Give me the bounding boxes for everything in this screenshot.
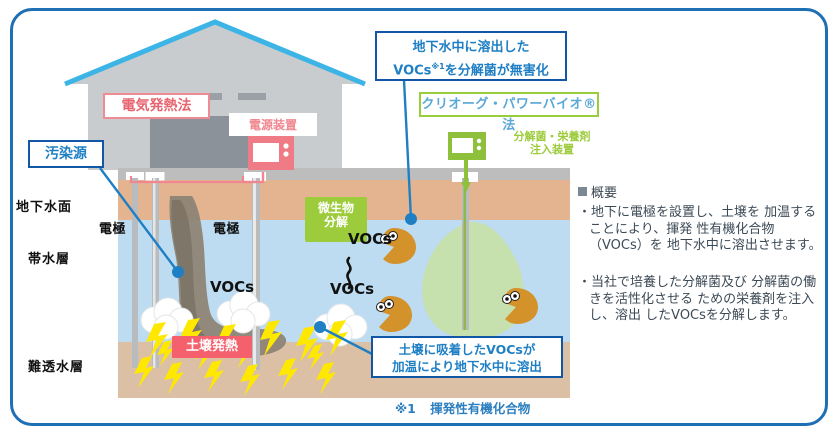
footnote-mark: ※1 [395, 401, 416, 416]
vocs-label-3: VOCs [330, 280, 374, 298]
power-supply-label: 電源装置 [229, 113, 317, 136]
top-callout-line-1: 地下水中に溶出した [377, 38, 565, 57]
soil-heating-bolts [128, 318, 378, 398]
top-callout-line-2: VOCs※1を分解菌が無害化 [377, 57, 565, 80]
microbe-3 [492, 286, 540, 326]
vocs-label-1: VOCs [210, 278, 254, 296]
panel-heading-text: 概要 [591, 182, 617, 201]
panel-bullet-2-l4: したVOCsを分解します。 [645, 308, 795, 323]
panel-bullet-2-l1: ・当社で培養した分解菌及び [578, 275, 747, 290]
ground-surface-layer [118, 168, 570, 180]
electric-heating-label: 電気発熱法 [103, 93, 210, 119]
description-panel: 概要 ・地下に電極を設置し、土壌を 加温することにより、揮発 性有機化合物（VO… [578, 182, 828, 325]
vocs-label-2: VOCs [348, 230, 392, 248]
electrode-label-1: 電極 [99, 218, 126, 237]
bottom-callout-line-1: 土壌に吸着したVOCsが [373, 341, 561, 358]
panel-bullet-1: ・地下に電極を設置し、土壌を 加温することにより、揮発 性有機化合物（VOCs）… [578, 205, 828, 255]
strata-label-aquitard: 難透水層 [28, 356, 84, 375]
panel-heading: 概要 [578, 182, 828, 201]
top-callout-footnote-mark: ※1 [431, 62, 444, 71]
panel-bullet-1-l1: ・地下に電極を設置し、土壌を [578, 205, 760, 220]
injection-device-label: 分解菌・栄養剤 注入装置 [492, 130, 612, 156]
top-callout-box: 地下水中に溶出した VOCs※1を分解菌が無害化 [375, 31, 567, 81]
soil-heating-tag: 土壌発熱 [172, 336, 252, 358]
microbial-tag-line-2: 分解 [305, 216, 367, 230]
electrode-label-2: 電極 [213, 218, 240, 237]
panel-bullet-1-l4: 地下水中に溶出させます。 [667, 238, 822, 253]
square-bullet-icon [578, 187, 587, 196]
microbe-2 [366, 294, 414, 334]
footnote-text: 揮発性有機化合物 [430, 401, 530, 416]
injection-well [448, 172, 482, 352]
method-name-label: クリオーグ・パワーバイオ®法 [419, 92, 599, 117]
strata-label-groundwater-surface: 地下水面 [16, 196, 72, 215]
contamination-source-label: 汚染源 [28, 140, 104, 168]
diagram-canvas: 電気発熱法 電源装置 汚染源 地下水中に溶出した VOCs※1を分解菌が無害化 … [0, 0, 840, 435]
bottom-callout-line-2: 加温により地下水中に溶出 [373, 358, 561, 375]
injection-device-icon [448, 132, 486, 160]
strata-label-aquifer: 帯水層 [28, 248, 70, 267]
injection-device-line-1: 分解菌・栄養剤 [492, 130, 612, 143]
microbial-tag-line-1: 微生物 [305, 202, 367, 216]
top-callout-rest: を分解菌が無害化 [445, 63, 549, 78]
power-supply-icon [248, 136, 294, 170]
bottom-callout-box: 土壌に吸着したVOCsが 加温により地下水中に溶出 [371, 336, 563, 378]
injection-device-line-2: 注入装置 [492, 143, 612, 156]
top-callout-vocs: VOCs [393, 63, 431, 78]
footnote: ※1 揮発性有機化合物 [395, 398, 530, 417]
panel-bullet-2: ・当社で培養した分解菌及び 分解菌の働きを活性化させる ための栄養剤を注入し、溶… [578, 275, 828, 325]
